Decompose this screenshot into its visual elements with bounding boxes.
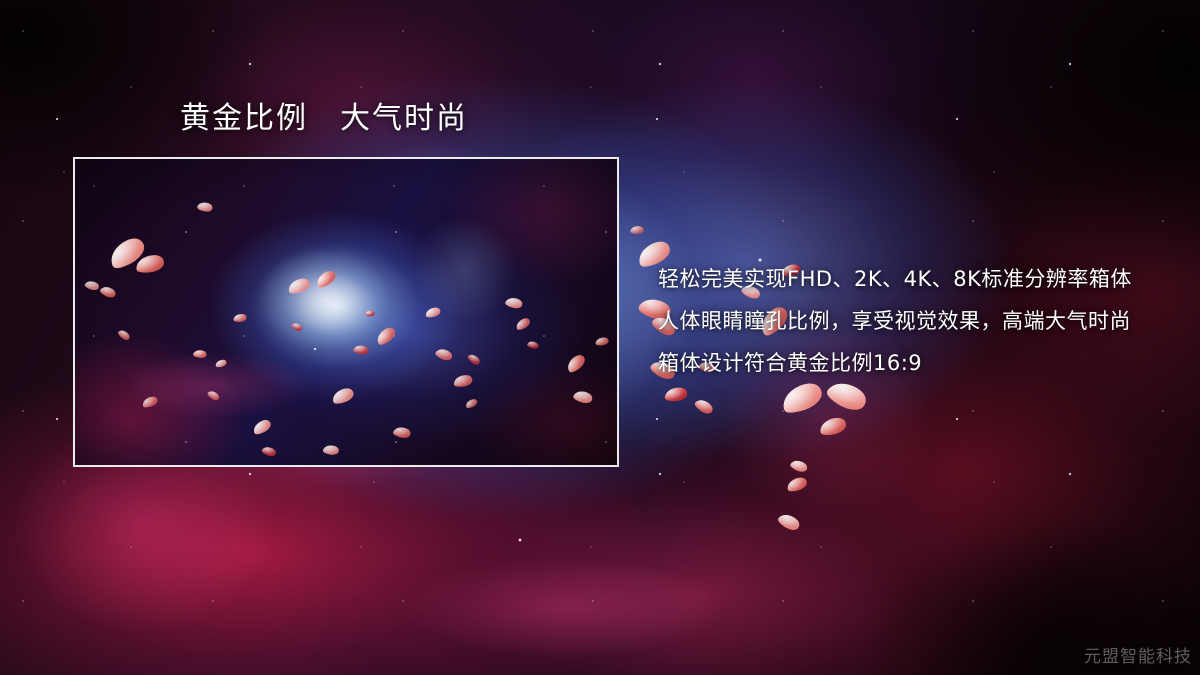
presentation-slide: 黄金比例 大气时尚 轻松完美实现FHD、2K、4K、8K标准分辨率箱体 人体眼睛… (0, 0, 1200, 675)
panel-vignette (75, 159, 617, 465)
body-line-1: 轻松完美实现FHD、2K、4K、8K标准分辨率箱体 (658, 258, 1178, 300)
framed-preview-panel[interactable] (73, 157, 619, 467)
body-line-2: 人体眼睛瞳孔比例，享受视觉效果，高端大气时尚 (658, 300, 1178, 342)
body-text-block: 轻松完美实现FHD、2K、4K、8K标准分辨率箱体 人体眼睛瞳孔比例，享受视觉效… (658, 258, 1178, 384)
petal-icon (788, 457, 809, 475)
petal-icon (663, 384, 689, 405)
petal-icon (785, 475, 810, 494)
petal-icon (692, 396, 716, 418)
body-line-3: 箱体设计符合黄金比例16:9 (658, 342, 1178, 384)
petal-icon (630, 225, 644, 235)
petal-icon (816, 415, 849, 439)
petal-icon (775, 510, 803, 534)
page-title: 黄金比例 大气时尚 (180, 101, 468, 137)
watermark: 元盟智能科技 (1084, 642, 1192, 667)
